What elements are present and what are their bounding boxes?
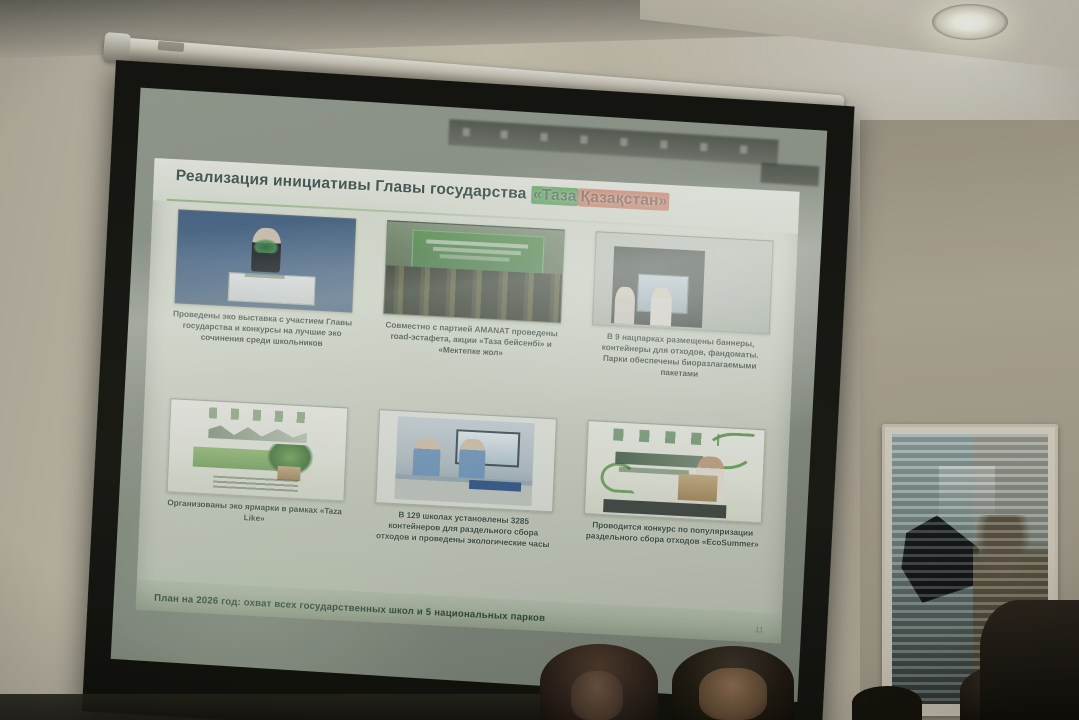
room-scene: Реализация инициативы Главы государства … (0, 0, 1079, 720)
caption-school-containers: В 129 школах установлены 3285 контейнеро… (373, 508, 554, 551)
slide-cell: В 9 нацпарках размещены баннеры, контейн… (581, 231, 782, 424)
caption-national-parks: В 9 нацпарках размещены баннеры, контейн… (589, 330, 771, 384)
audience-person (540, 644, 658, 720)
photo-national-parks (592, 231, 774, 334)
slide-content-grid: Проведены эко выставка с участием Главы … (155, 209, 782, 613)
audience-person (672, 646, 794, 720)
photo-eco-exhibition (174, 209, 356, 312)
projected-toolbar-ghost (448, 119, 779, 166)
ceiling-light-icon (932, 4, 1008, 40)
presentation-slide: Реализация инициативы Главы государства … (136, 158, 800, 643)
projection-surface: Реализация инициативы Главы государства … (111, 88, 828, 702)
caption-taza-like-fairs: Организованы эко ярмарки в рамках «Taza … (164, 497, 345, 529)
caption-ecosummer-contest: Проводится конкурс по популяризации разд… (582, 519, 763, 551)
slide-cell: В 129 школах установлены 3285 контейнеро… (364, 409, 565, 602)
caption-eco-exhibition: Проведены эко выставка с участием Главы … (172, 308, 353, 351)
caption-amanat-road-estafeta: Совместно с партией AMANAT проведены roa… (381, 319, 562, 362)
audience-person (852, 686, 922, 720)
photo-school-containers (375, 409, 557, 512)
slide-cell: Проводится конкурс по популяризации разд… (573, 420, 774, 613)
photo-amanat-road-estafeta (383, 220, 565, 323)
photo-taza-like-fairs (166, 398, 348, 501)
audience-shoulder (980, 600, 1079, 720)
slide-cell: Проведены эко выставка с участием Главы … (163, 209, 364, 402)
slide-cell: Организованы эко ярмарки в рамках «Taza … (155, 398, 356, 591)
projection-screen: Реализация инициативы Главы государства … (82, 60, 855, 720)
photo-ecosummer-contest (584, 420, 766, 523)
slide-title-highlight-green: «Таза (531, 186, 579, 206)
table-edge (0, 694, 540, 720)
projected-panel-ghost (760, 163, 819, 187)
slide-cell: Совместно с партией AMANAT проведены roa… (372, 220, 573, 413)
